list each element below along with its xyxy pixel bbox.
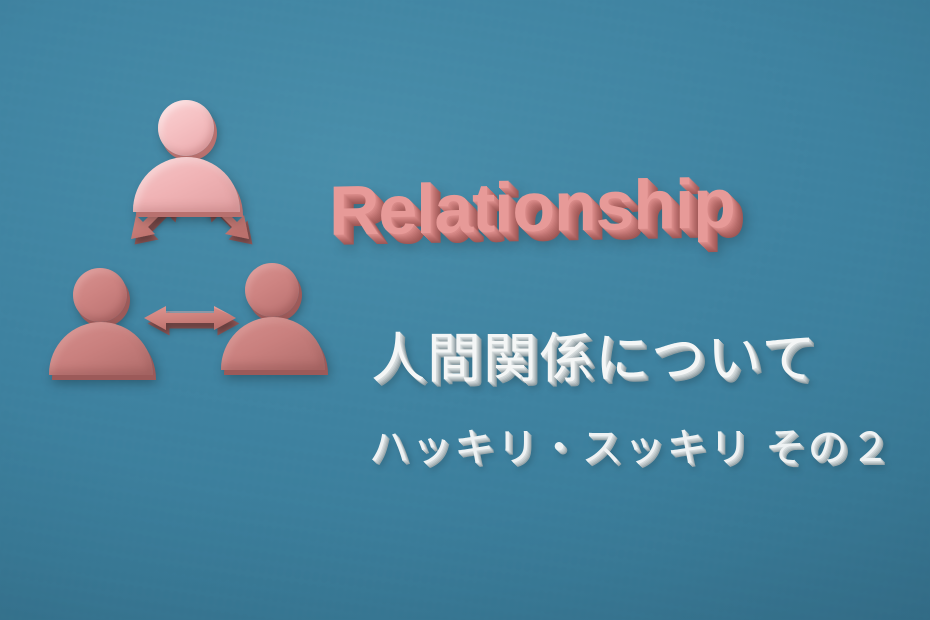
thumbnail-canvas: Relationship 人間関係について ハッキリ・スッキリ その２ (0, 0, 930, 620)
person-top-head (158, 100, 214, 156)
relationship-title: Relationship (329, 168, 735, 246)
person-bottom-left-head (73, 268, 127, 322)
arrow-face-layer (131, 193, 249, 330)
japanese-main-title: 人間関係について (371, 331, 817, 388)
person-bottom-right-head (245, 263, 299, 317)
relationship-network-icon (40, 85, 340, 385)
japanese-subtitle: ハッキリ・スッキリ その２ (369, 427, 893, 469)
